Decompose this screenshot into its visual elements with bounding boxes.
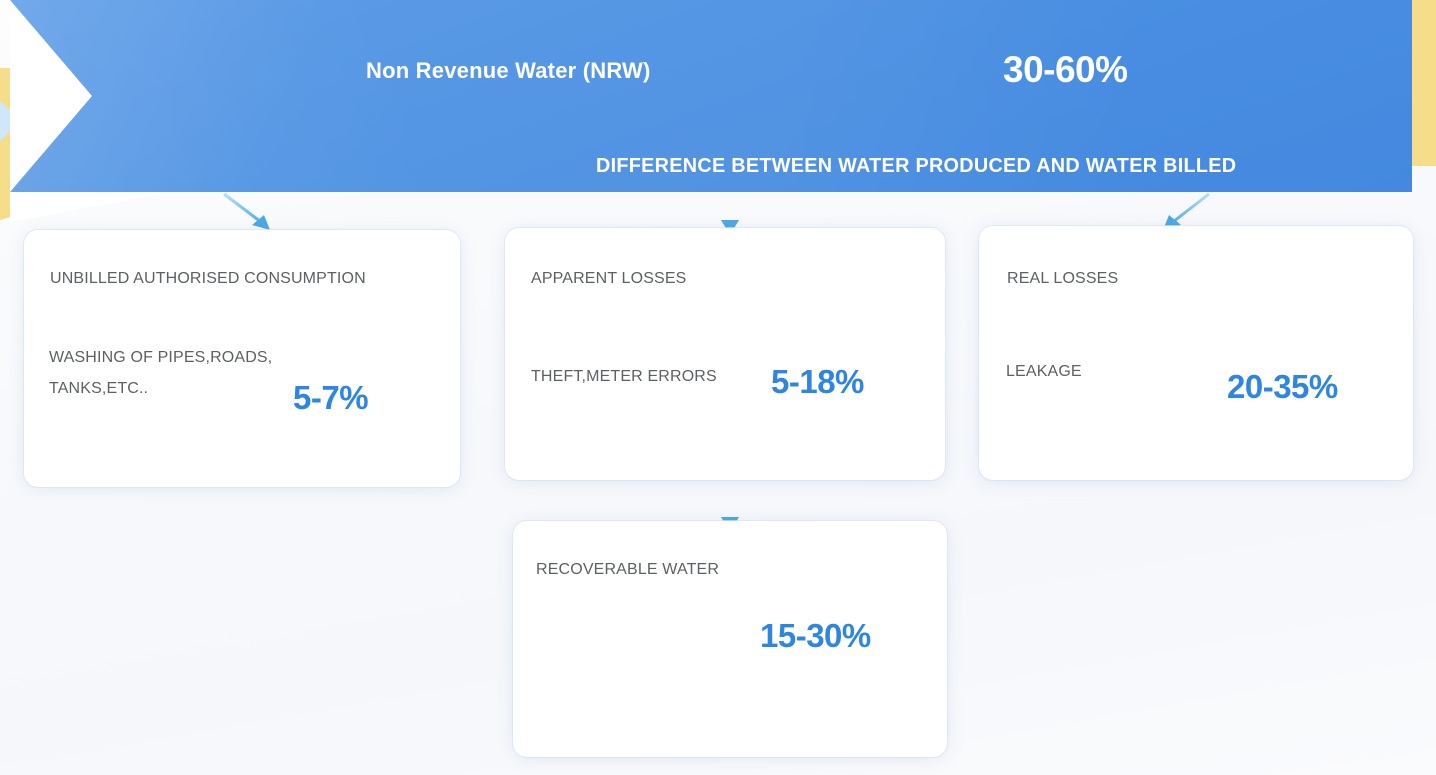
card-real-losses[interactable]: REAL LOSSES LEAKAGE 20-35% (979, 226, 1413, 480)
card-title: RECOVERABLE WATER (536, 561, 719, 579)
card-value: 5-18% (771, 363, 864, 401)
card-unbilled-authorised-consumption[interactable]: UNBILLED AUTHORISED CONSUMPTION WASHING … (24, 230, 460, 487)
card-title: APPARENT LOSSES (531, 270, 687, 288)
card-value: 5-7% (293, 379, 368, 417)
card-subtitle: WASHING OF PIPES,ROADS, TANKS,ETC.. (49, 342, 272, 404)
banner-value: 30-60% (1003, 49, 1128, 91)
white-banner-tail (10, 192, 170, 222)
yellow-accent-block-right (1412, 0, 1436, 166)
card-recoverable-water[interactable]: RECOVERABLE WATER 15-30% (513, 521, 947, 757)
card-subtitle: LEAKAGE (1006, 356, 1082, 387)
card-subtitle: THEFT,METER ERRORS (531, 361, 717, 392)
banner-subtitle: DIFFERENCE BETWEEN WATER PRODUCED AND WA… (596, 155, 1236, 178)
card-value: 20-35% (1227, 368, 1338, 406)
nrw-infographic: Non Revenue Water (NRW) 30-60% DIFFERENC… (0, 0, 1436, 775)
card-apparent-losses[interactable]: APPARENT LOSSES THEFT,METER ERRORS 5-18% (505, 228, 945, 480)
banner-title: Non Revenue Water (NRW) (366, 58, 651, 84)
card-title: UNBILLED AUTHORISED CONSUMPTION (50, 270, 366, 288)
card-title: REAL LOSSES (1007, 270, 1118, 288)
card-value: 15-30% (760, 617, 871, 655)
